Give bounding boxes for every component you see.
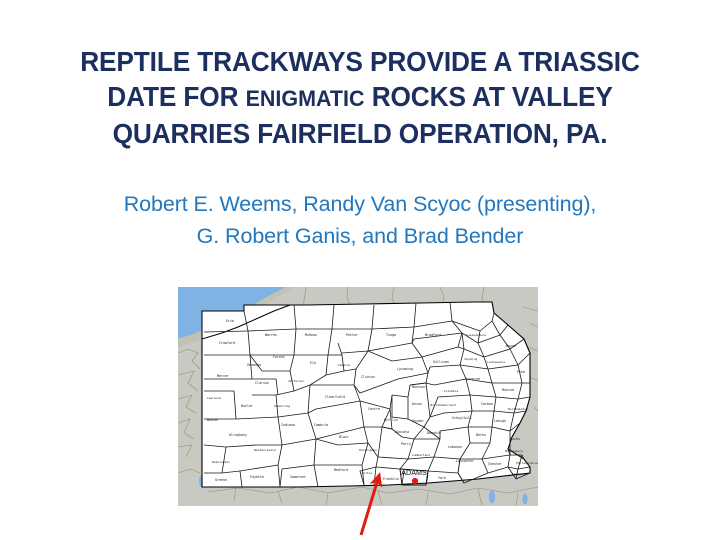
county-label-bucks: Bucks <box>510 437 520 441</box>
title-line-3-text: QUARRIES FAIRFIELD OPERATION, PA. <box>113 118 608 149</box>
county-label-luzerne: Luzerne <box>466 377 480 381</box>
county-label-greene: Greene <box>215 478 227 482</box>
county-label-monroe: Monroe <box>502 388 514 392</box>
county-label-lawrence: Lawrence <box>207 396 222 400</box>
water-body-1 <box>489 491 495 504</box>
county-label-jefferson: Jefferson <box>288 379 304 383</box>
county-label-cumberland: Cumberland <box>412 453 430 457</box>
title-line-2: DATE FOR ENIGMATIC ROCKS AT VALLEY <box>37 79 683 116</box>
county-label-mckean: McKean <box>305 333 317 337</box>
water-body-2 <box>522 494 527 505</box>
county-label-mercer: Mercer <box>217 374 229 378</box>
author-line-2: G. Robert Ganis, and Brad Bender <box>22 220 698 252</box>
county-label-sullivan: Sullivan <box>433 360 449 364</box>
county-label-washington: Washington <box>212 460 230 464</box>
county-label-northumberland: Northumberland <box>430 403 455 407</box>
county-label-armstrong: Armstrong <box>274 404 290 408</box>
county-label-centre: Centre <box>368 407 380 411</box>
author-line-1: Robert E. Weems, Randy Van Scyoc (presen… <box>22 188 698 220</box>
county-label-bedford: Bedford <box>334 468 348 472</box>
county-label-lebanon: Lebanon <box>448 445 462 449</box>
county-label-forest: Forest <box>273 355 285 359</box>
county-label-clinton: Clinton <box>361 375 375 379</box>
county-label-lackawanna: Lackawanna <box>487 360 505 364</box>
county-label-erie: Erie <box>226 319 234 323</box>
county-label-butler: Butler <box>241 404 253 408</box>
county-label-beaver: Beaver <box>207 418 219 422</box>
title-line-2-post: ROCKS AT VALLEY <box>365 81 613 112</box>
county-label-franklin: Franklin <box>383 477 399 481</box>
title-line-1-text: REPTILE TRACKWAYS PROVIDE A TRIASSIC <box>80 46 640 77</box>
county-label-union: Union <box>412 402 422 406</box>
county-label-lancaster: Lancaster <box>456 459 474 463</box>
county-label-berks: Berks <box>476 433 486 437</box>
county-label-schuylkill: Schuylkill <box>452 416 472 420</box>
county-label-fulton: Fulton <box>362 471 373 475</box>
pennsylvania-county-map-image: Erie Crawford Warren McKean Potter Tioga… <box>178 287 538 506</box>
county-label-bradford: Bradford <box>425 333 441 337</box>
county-label-montour: Montour <box>412 385 426 389</box>
title-line-2-pre: DATE FOR <box>107 81 245 112</box>
county-label-cambria: Cambria <box>314 423 328 427</box>
county-label-lehigh: Lehigh <box>494 419 506 423</box>
county-label-perry: Perry <box>401 442 411 446</box>
county-label-elk: Elk <box>310 361 316 365</box>
county-label-cameron: Cameron <box>338 363 351 367</box>
county-label-clarion: Clarion <box>255 381 269 385</box>
county-label-fayette: Fayette <box>250 475 264 479</box>
county-label-blair: Blair <box>339 435 349 439</box>
county-label-tioga: Tioga <box>386 333 396 337</box>
county-label-carbon: Carbon <box>481 402 493 406</box>
county-label-philadelphia: Philadelphia <box>516 461 538 465</box>
county-label-crawford: Crawford <box>219 341 235 345</box>
county-label-huntingdon: Huntingdon <box>359 448 377 452</box>
county-label-westmoreland: Westmoreland <box>254 448 276 452</box>
county-label-warren: Warren <box>265 333 277 337</box>
county-label-lycoming: Lycoming <box>397 367 413 371</box>
county-label-dauphin: Dauphin <box>427 431 441 435</box>
county-label-chester: Chester <box>488 462 502 466</box>
county-label-montgomery: Montgomery <box>505 449 523 453</box>
county-label-adams-highlighted: ADAMS <box>401 468 427 477</box>
county-label-snyder: Snyder <box>412 419 424 423</box>
title-line-1: REPTILE TRACKWAYS PROVIDE A TRIASSIC <box>37 44 683 79</box>
county-label-york: York <box>438 476 446 480</box>
slide-subtitle-authors: Robert E. Weems, Randy Van Scyoc (presen… <box>22 188 698 252</box>
county-label-columbia: Columbia <box>444 389 459 393</box>
county-label-delaware: Delaware <box>512 472 527 476</box>
county-label-pike: Pike <box>517 370 525 374</box>
county-label-potter: Potter <box>346 333 358 337</box>
county-label-mifflin: Mifflin <box>384 418 398 422</box>
title-line-3: QUARRIES FAIRFIELD OPERATION, PA. <box>37 116 683 151</box>
county-label-venango: Venango <box>247 363 261 367</box>
presentation-slide: REPTILE TRACKWAYS PROVIDE A TRIASSIC DAT… <box>0 0 720 540</box>
title-emphasis-enigmatic: ENIGMATIC <box>246 86 365 111</box>
county-label-clearfield: Clearfield <box>325 395 345 399</box>
county-label-allegheny: Allegheny <box>229 433 247 437</box>
county-label-somerset: Somerset <box>290 475 306 479</box>
map-graphic: Erie Crawford Warren McKean Potter Tioga… <box>178 287 538 506</box>
slide-title: REPTILE TRACKWAYS PROVIDE A TRIASSIC DAT… <box>22 44 698 151</box>
county-label-juniata: Juniata <box>395 430 409 434</box>
county-label-wyoming: Wyoming <box>465 357 478 361</box>
county-label-northampton: Northampton <box>508 407 528 411</box>
county-label-wayne: Wayne <box>506 344 516 348</box>
county-label-susquehanna: Susquehanna <box>466 333 486 337</box>
county-label-indiana: Indiana <box>281 423 295 427</box>
site-marker-dot <box>412 478 418 484</box>
